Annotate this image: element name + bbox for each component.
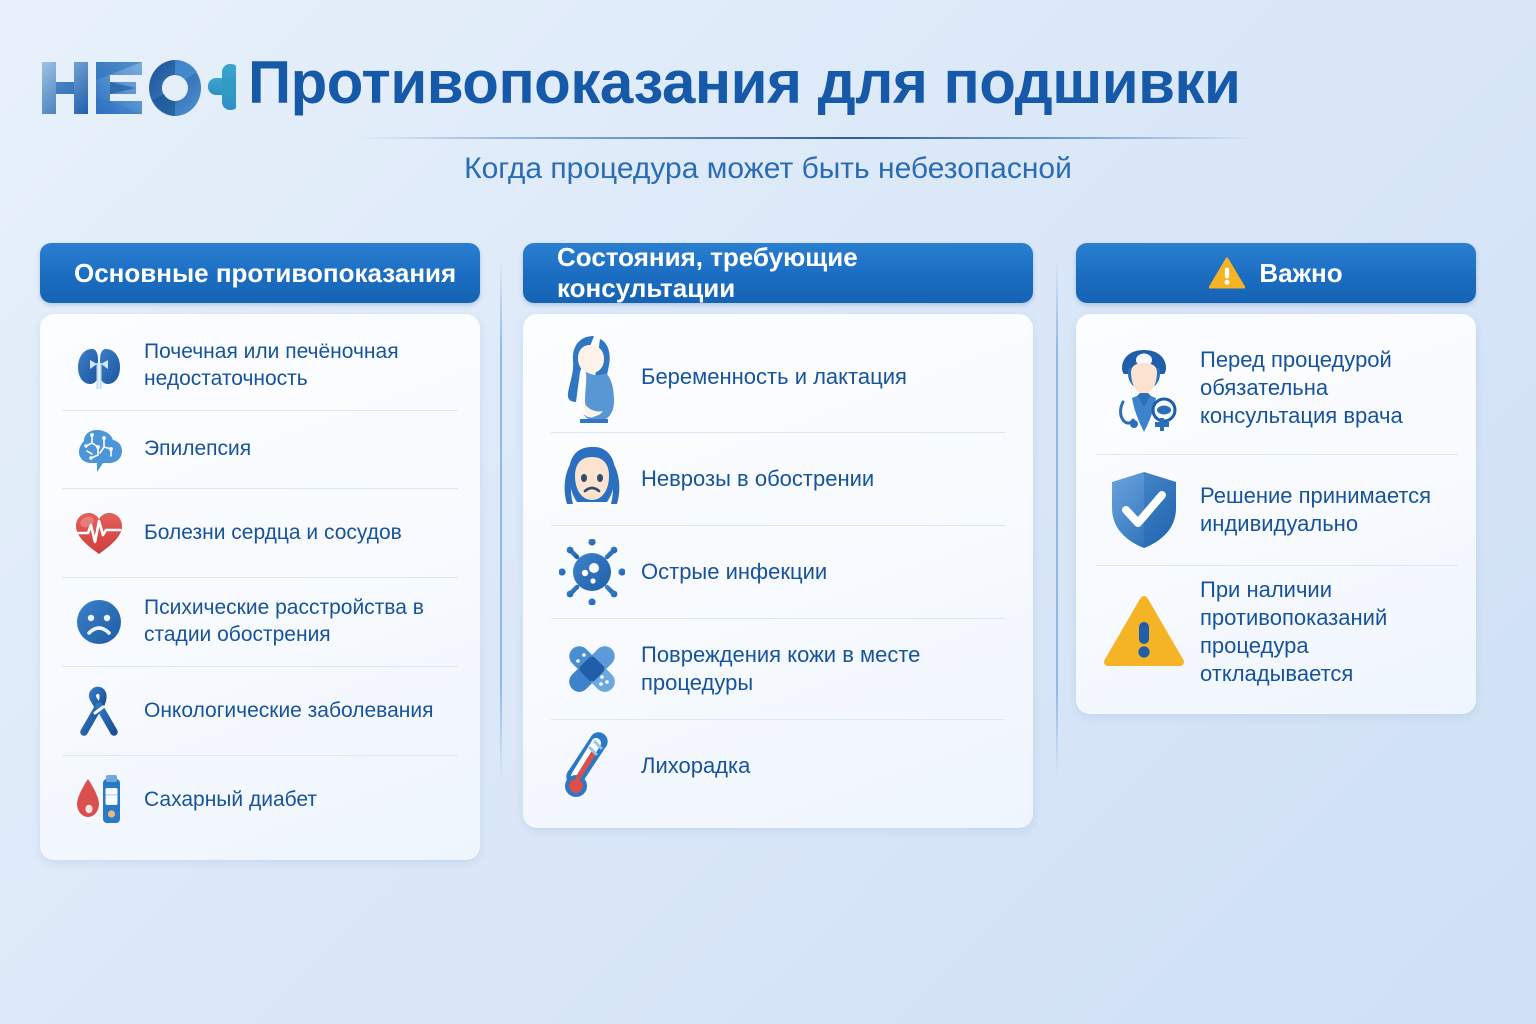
glucometer-blood-drop-icon	[62, 771, 136, 829]
list-item-label: Сахарный диабет	[136, 787, 317, 814]
heart-ecg-icon	[62, 504, 136, 562]
list-item-label: Онкологические заболевания	[136, 698, 433, 725]
page-subtitle: Когда процедура может быть небезопасной	[0, 152, 1536, 186]
infographic-canvas: Противопоказания для подшивки Когда проц…	[0, 0, 1536, 1024]
list-item-label: Острые инфекции	[633, 558, 827, 586]
list-item-label: Беременность и лактация	[633, 363, 907, 391]
list-item[interactable]: Почечная или печёночная недостаточность	[62, 322, 458, 410]
column-header-label: Состояния, требующие консультации	[523, 242, 1033, 304]
list-item[interactable]: Эпилепсия	[62, 410, 458, 488]
pregnant-woman-icon	[551, 331, 633, 423]
list-item[interactable]: Беременность и лактация	[551, 322, 1005, 432]
list-item-label: Лихорадка	[633, 752, 750, 780]
column-important: Важно	[1076, 243, 1476, 714]
title-divider	[356, 137, 1256, 139]
header: Противопоказания для подшивки Когда проц…	[0, 0, 1536, 200]
list-item-label: Почечная или печёночная недостаточность	[136, 339, 458, 393]
list-item[interactable]: Решение принимается индивидуально	[1096, 454, 1458, 565]
list-item[interactable]: Повреждения кожи в месте процедуры	[551, 618, 1005, 719]
neo-plus-logo	[36, 52, 236, 124]
list-item[interactable]: Лихорадка	[551, 719, 1005, 812]
sad-face-icon	[62, 593, 136, 651]
list-item[interactable]: Психические расстройства в стадии обостр…	[62, 577, 458, 666]
list-item-label: Неврозы в обострении	[633, 465, 874, 493]
warning-triangle-icon	[1209, 257, 1245, 289]
column-main-contraindications: Основные противопоказания Почечная или п…	[40, 243, 480, 860]
awareness-ribbon-icon	[62, 682, 136, 740]
list-item-label: Перед процедурой обязательна консультаци…	[1192, 346, 1458, 430]
column-header-main: Основные противопоказания	[40, 243, 480, 303]
list-item-label: Решение принимается индивидуально	[1192, 482, 1458, 538]
list-item-label: Эпилепсия	[136, 436, 251, 463]
list-item[interactable]: Онкологические заболевания	[62, 666, 458, 755]
column-conditions-consultation: Состояния, требующие консультации Береме…	[523, 243, 1033, 828]
column-card-important: Перед процедурой обязательна консультаци…	[1076, 314, 1476, 714]
shield-check-icon	[1096, 469, 1192, 551]
list-item-label: Повреждения кожи в месте процедуры	[633, 641, 1005, 697]
list-item[interactable]: Болезни сердца и сосудов	[62, 488, 458, 577]
column-card-conditions: Беременность и лактация Неврозы в	[523, 314, 1033, 828]
thermometer-icon	[551, 731, 633, 801]
list-item[interactable]: Острые инфекции	[551, 525, 1005, 618]
column-divider-1	[500, 258, 502, 778]
page-title: Противопоказания для подшивки	[248, 48, 1240, 117]
list-item-label: Болезни сердца и сосудов	[136, 520, 402, 547]
warning-triangle-icon	[1096, 596, 1192, 668]
list-item[interactable]: Неврозы в обострении	[551, 432, 1005, 525]
column-header-label: Важно	[1259, 258, 1342, 289]
list-item[interactable]: Перед процедурой обязательна консультаци…	[1096, 322, 1458, 454]
column-header-conditions: Состояния, требующие консультации	[523, 243, 1033, 303]
brain-icon	[62, 421, 136, 479]
kidneys-icon	[62, 337, 136, 395]
sad-woman-icon	[551, 443, 633, 515]
list-item-label: При наличии противопоказаний процедура о…	[1192, 576, 1458, 689]
list-item[interactable]: При наличии противопоказаний процедура о…	[1096, 565, 1458, 698]
list-item-label: Психические расстройства в стадии обостр…	[136, 595, 458, 649]
virus-icon	[551, 539, 633, 605]
column-header-label: Основные противопоказания	[40, 258, 456, 289]
list-item[interactable]: Сахарный диабет	[62, 755, 458, 844]
column-divider-2	[1056, 258, 1058, 778]
column-card-main: Почечная или печёночная недостаточность …	[40, 314, 480, 860]
doctor-icon	[1096, 342, 1192, 434]
column-header-important: Важно	[1076, 243, 1476, 303]
bandage-icon	[551, 635, 633, 703]
